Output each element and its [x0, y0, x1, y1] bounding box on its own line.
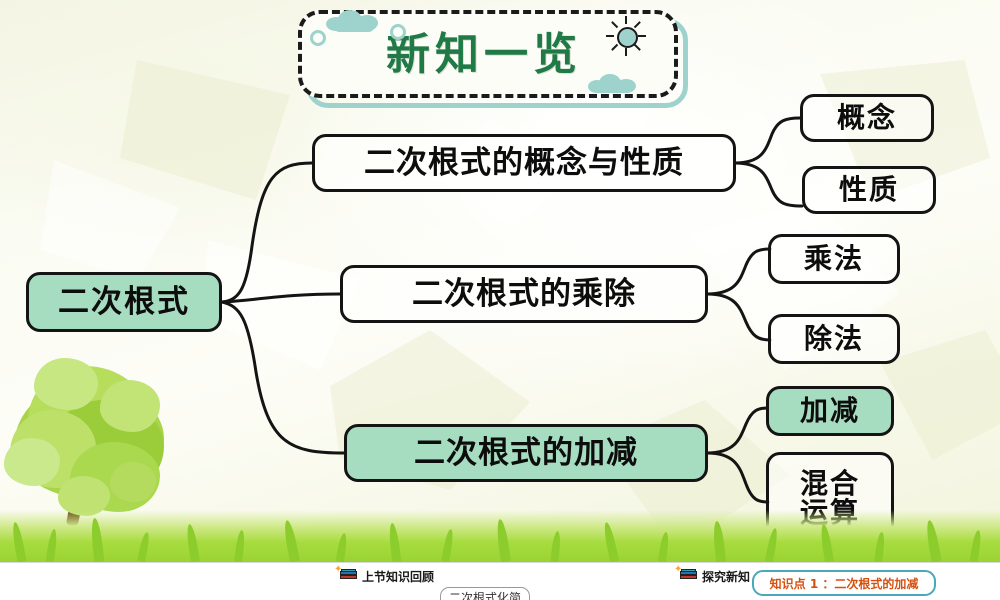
book-stack-icon-left: [340, 569, 357, 582]
clipped-chip-simplify[interactable]: 二次根式化简: [440, 587, 530, 600]
mindmap-leaf-concept[interactable]: 概念: [800, 94, 934, 142]
mindmap-branch-add-subtract[interactable]: 二次根式的加减: [344, 424, 708, 482]
cloud-icon: [326, 10, 382, 32]
knowledge-point-pill[interactable]: 知识点 1 ：二次根式的加减: [752, 570, 936, 596]
slide-canvas: 二次根式 二次根式的概念与性质 概念 性质 二次根式的乘除 乘法 除法 二次根式…: [0, 0, 1000, 562]
review-section-label[interactable]: 上节知识回顾: [362, 568, 434, 585]
mindmap-branch-concept-properties[interactable]: 二次根式的概念与性质: [312, 134, 736, 192]
mindmap-leaf-properties[interactable]: 性质: [802, 166, 936, 214]
mindmap-branch-multiply-divide[interactable]: 二次根式的乘除: [340, 265, 708, 323]
grass-strip: [0, 510, 1000, 562]
banner-dot-right: [390, 24, 406, 40]
tree-illustration: [4, 356, 194, 526]
mindmap-leaf-multiplication[interactable]: 乘法: [768, 234, 900, 284]
mindmap-root-node[interactable]: 二次根式: [26, 272, 222, 332]
mindmap-leaf-add-subtract[interactable]: 加减: [766, 386, 894, 436]
title-banner: 新知一览: [296, 8, 686, 104]
mixed-operations-line-1: 混合: [800, 469, 860, 498]
book-stack-icon-right: [680, 569, 697, 582]
sun-icon: [606, 16, 646, 56]
banner-dot-left: [310, 30, 326, 46]
slide-stage: 二次根式 二次根式的概念与性质 概念 性质 二次根式的乘除 乘法 除法 二次根式…: [0, 0, 1000, 600]
explore-section-label[interactable]: 探究新知: [702, 568, 750, 585]
cloud-icon-bottom: [588, 74, 640, 94]
mindmap-leaf-division[interactable]: 除法: [768, 314, 900, 364]
